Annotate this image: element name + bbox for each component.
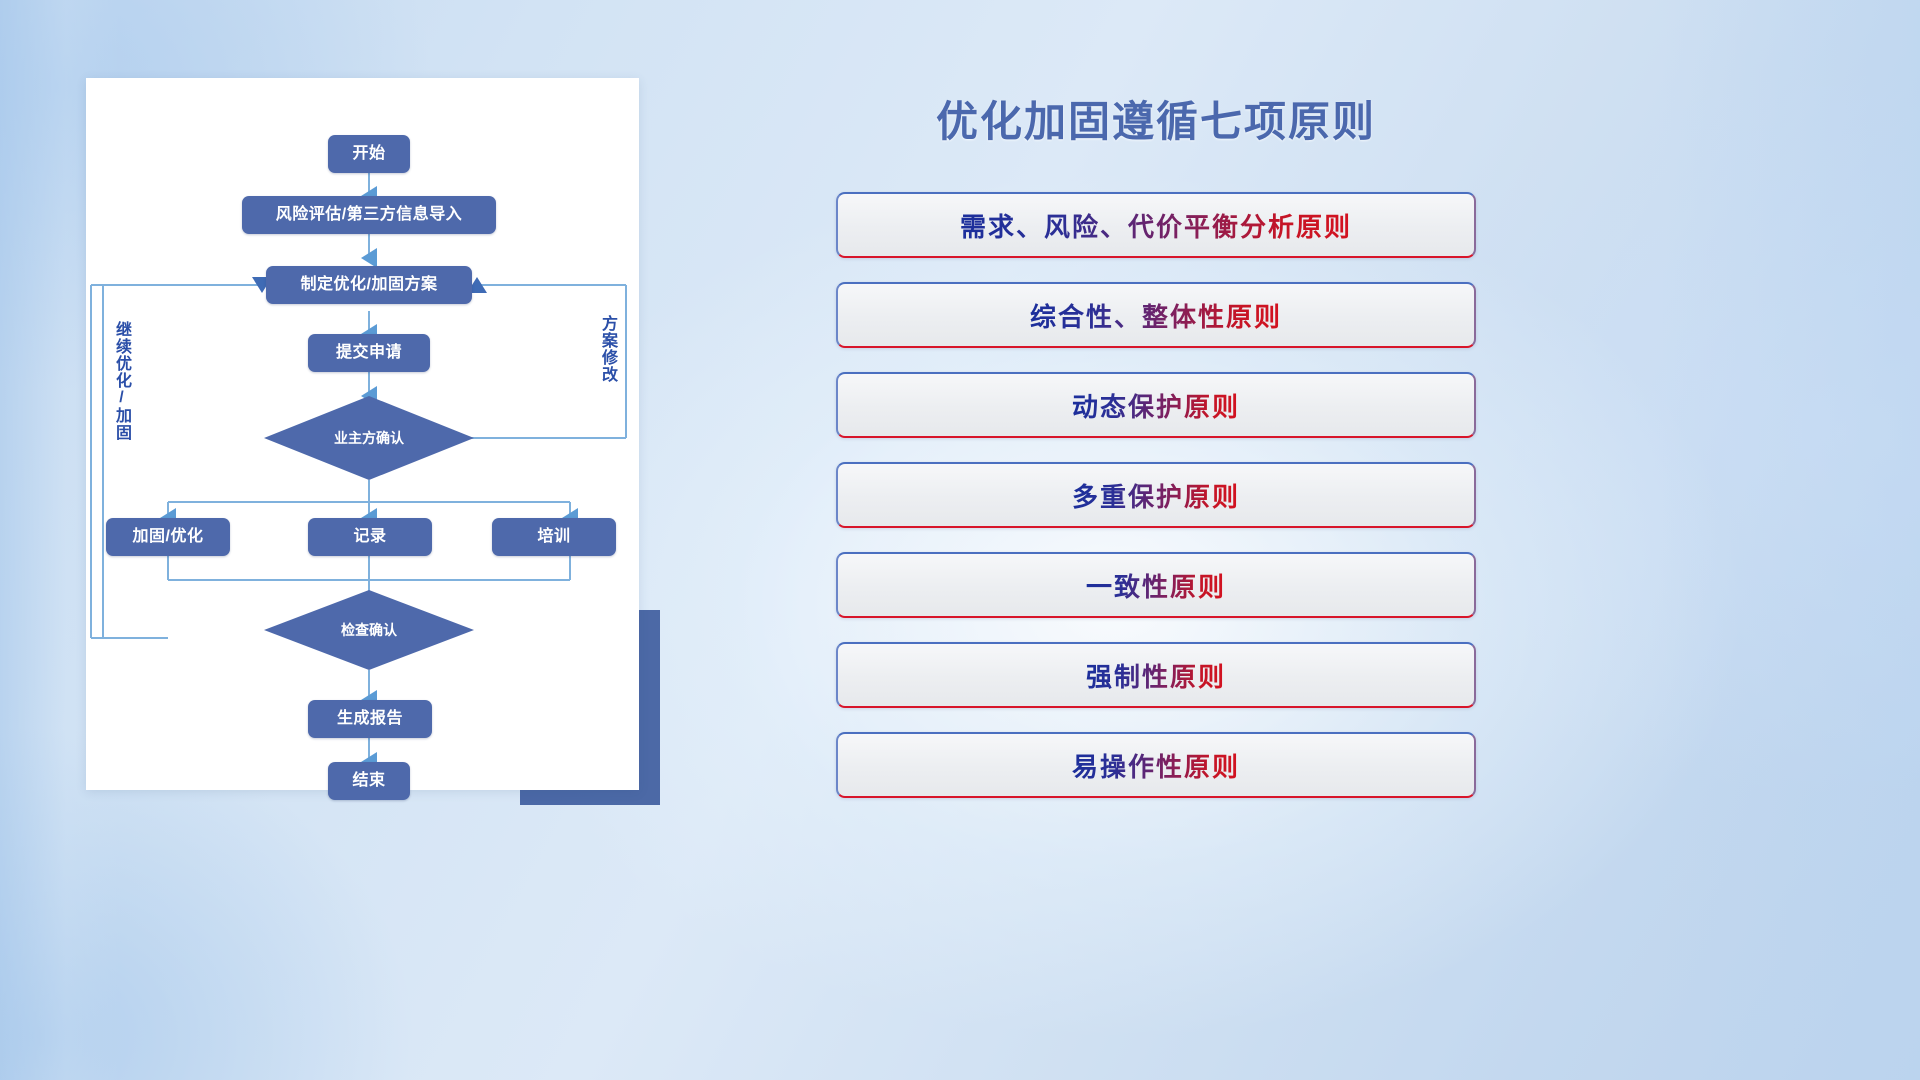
principles-list: 需求、风险、代价平衡分析原则 综合性、整体性原则 动态保护原则 多重保护原则 一… bbox=[836, 192, 1476, 822]
principle-card-1-label: 需求、风险、代价平衡分析原则 bbox=[960, 207, 1352, 244]
node-plan-label: 制定优化/加固方案 bbox=[301, 276, 438, 294]
flowchart-sheet: 开始 风险评估/第三方信息导入 制定优化/加固方案 提交申请 业主方确认 加固/… bbox=[86, 78, 639, 790]
node-risk-assessment-label: 风险评估/第三方信息导入 bbox=[276, 206, 462, 224]
principle-card-3-label: 动态保护原则 bbox=[1072, 387, 1240, 424]
node-submit-label: 提交申请 bbox=[336, 344, 402, 362]
slide-canvas: 开始 风险评估/第三方信息导入 制定优化/加固方案 提交申请 业主方确认 加固/… bbox=[0, 0, 1920, 1080]
principle-card-1[interactable]: 需求、风险、代价平衡分析原则 bbox=[836, 192, 1476, 258]
node-report[interactable]: 生成报告 bbox=[308, 700, 432, 738]
node-owner-confirm-label: 业主方确认 bbox=[334, 428, 404, 448]
principle-card-6-label: 强制性原则 bbox=[1086, 657, 1226, 694]
node-check-confirm-label: 检查确认 bbox=[341, 620, 397, 640]
node-training-label: 培训 bbox=[537, 528, 570, 546]
node-plan[interactable]: 制定优化/加固方案 bbox=[266, 266, 472, 304]
node-record[interactable]: 记录 bbox=[308, 518, 432, 556]
node-end[interactable]: 结束 bbox=[328, 762, 410, 800]
node-record-label: 记录 bbox=[353, 528, 386, 546]
right-light-sweep bbox=[1660, 0, 1920, 1080]
principle-card-4[interactable]: 多重保护原则 bbox=[836, 462, 1476, 528]
node-submit[interactable]: 提交申请 bbox=[308, 334, 430, 372]
principle-card-6[interactable]: 强制性原则 bbox=[836, 642, 1476, 708]
node-owner-confirm[interactable]: 业主方确认 bbox=[264, 396, 474, 480]
principle-card-5[interactable]: 一致性原则 bbox=[836, 552, 1476, 618]
flowchart: 开始 风险评估/第三方信息导入 制定优化/加固方案 提交申请 业主方确认 加固/… bbox=[86, 78, 639, 790]
node-training[interactable]: 培训 bbox=[492, 518, 616, 556]
node-check-confirm[interactable]: 检查确认 bbox=[264, 590, 474, 670]
node-start-label: 开始 bbox=[352, 145, 385, 163]
principle-card-2-label: 综合性、整体性原则 bbox=[1030, 297, 1282, 334]
principle-card-7-label: 易操作性原则 bbox=[1072, 747, 1240, 784]
node-reinforce-label: 加固/优化 bbox=[133, 528, 204, 546]
node-end-label: 结束 bbox=[352, 772, 385, 790]
principle-card-4-label: 多重保护原则 bbox=[1072, 477, 1240, 514]
principle-card-3[interactable]: 动态保护原则 bbox=[836, 372, 1476, 438]
flow-label-left-loop: 继续优化/加固 bbox=[112, 321, 129, 451]
node-start[interactable]: 开始 bbox=[328, 135, 410, 173]
node-report-label: 生成报告 bbox=[337, 710, 403, 728]
flow-label-right-loop: 方案修改 bbox=[598, 315, 615, 405]
principle-card-2[interactable]: 综合性、整体性原则 bbox=[836, 282, 1476, 348]
node-risk-assessment[interactable]: 风险评估/第三方信息导入 bbox=[242, 196, 496, 234]
principle-card-5-label: 一致性原则 bbox=[1086, 567, 1226, 604]
principle-card-7[interactable]: 易操作性原则 bbox=[836, 732, 1476, 798]
panel-title: 优化加固遵循七项原则 bbox=[836, 88, 1476, 149]
node-reinforce[interactable]: 加固/优化 bbox=[106, 518, 230, 556]
